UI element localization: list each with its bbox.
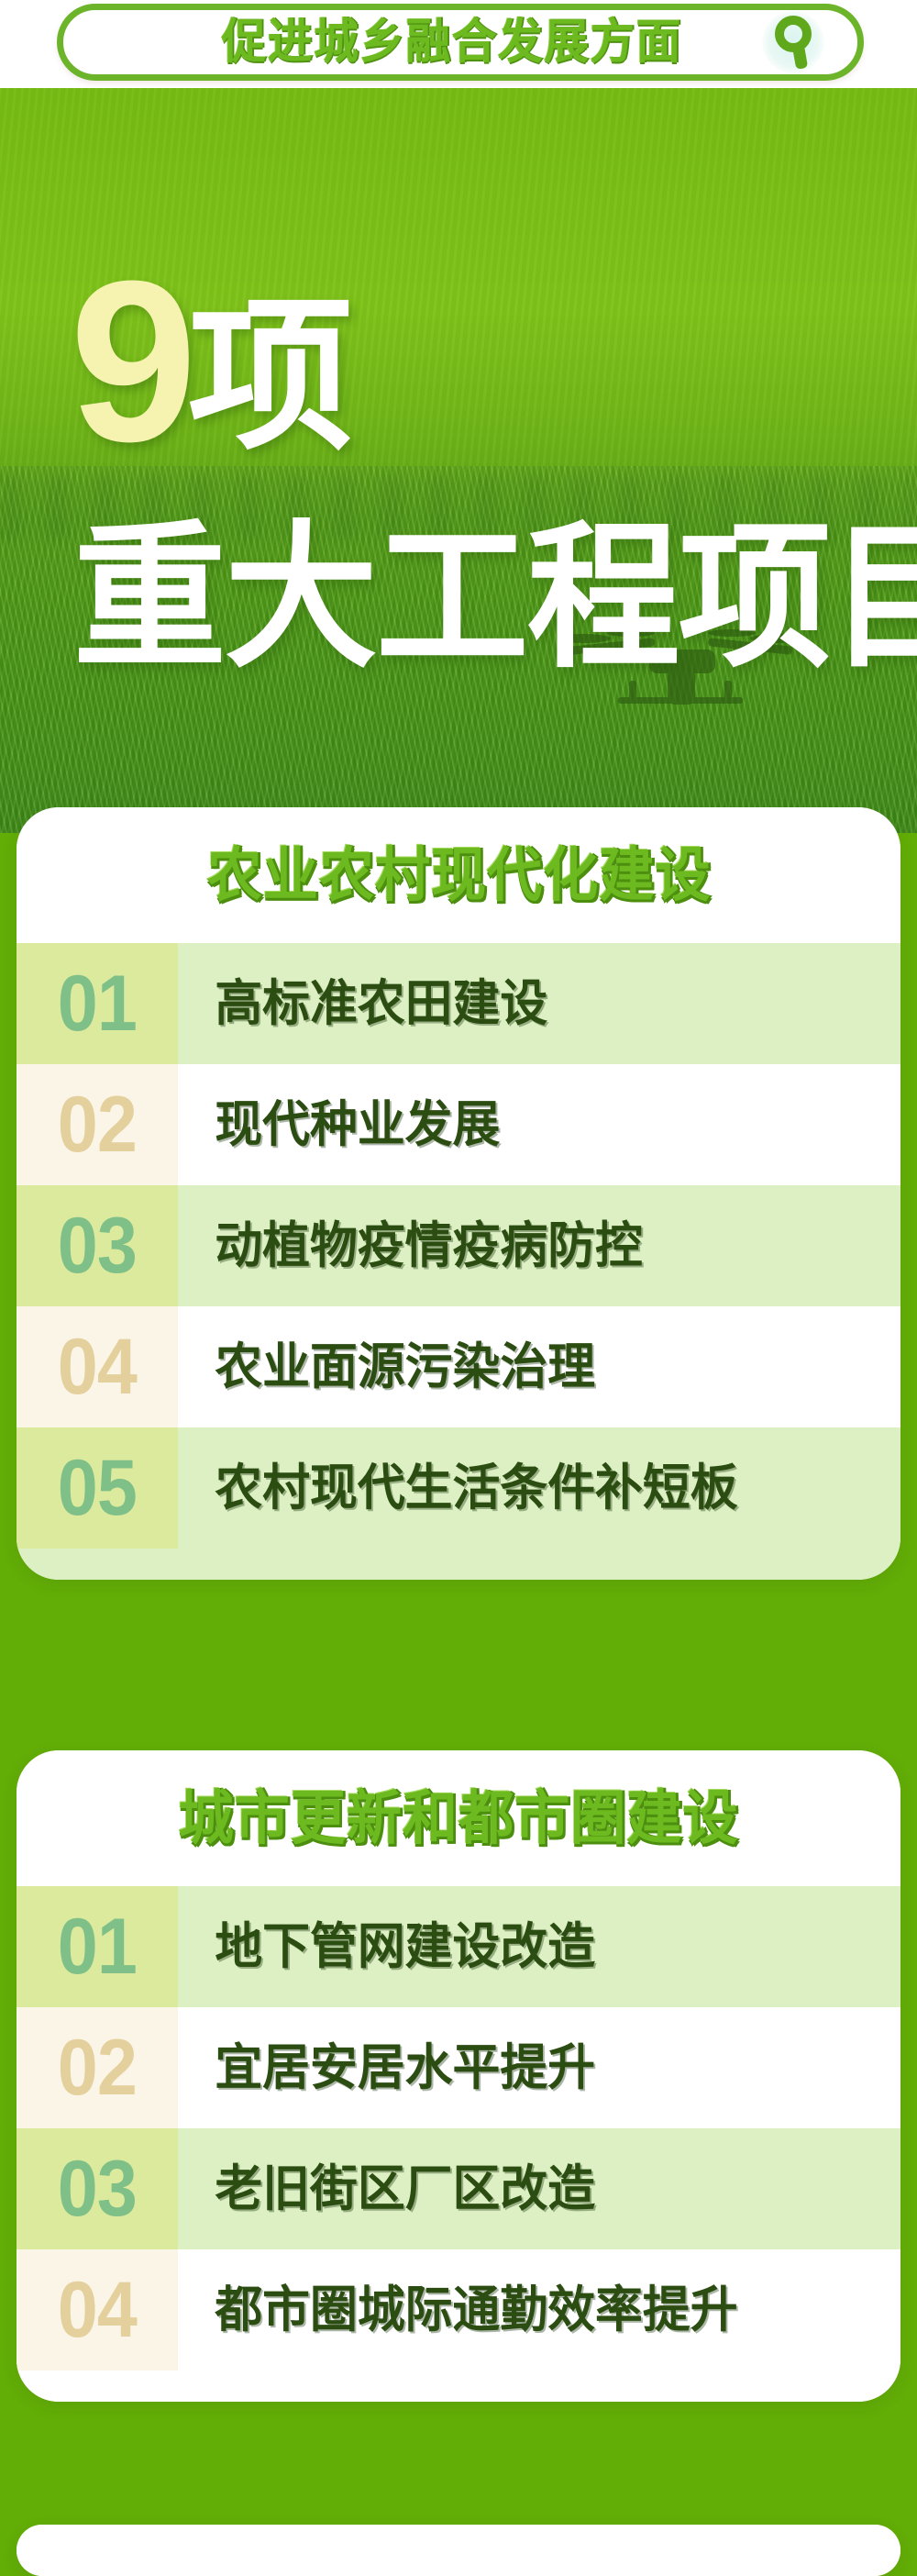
list-item[interactable]: 04 都市圈城际通勤效率提升 — [17, 2249, 900, 2371]
list-item[interactable]: 01 地下管网建设改造 — [17, 1886, 900, 2007]
item-number: 01 — [58, 1907, 137, 1986]
card-header — [17, 2525, 900, 2576]
item-label: 地下管网建设改造 — [178, 1886, 871, 2007]
card-title: 农业农村现代化建设 — [206, 846, 711, 905]
item-number: 02 — [58, 2028, 137, 2107]
hero-count: 9 — [70, 264, 192, 460]
hero-subtitle: 重大工程项目 — [73, 519, 917, 677]
item-number: 04 — [58, 2271, 137, 2349]
item-number: 02 — [58, 1085, 137, 1164]
infographic-page: 促进城乡融合发展方面 — [0, 0, 917, 2576]
item-number-badge: 01 — [17, 1886, 178, 2007]
page-title: 促进城乡融合发展方面 — [123, 18, 734, 66]
item-label: 宜居安居水平提升 — [178, 2007, 871, 2128]
item-label: 动植物疫情疫病防控 — [178, 1185, 871, 1306]
item-number: 05 — [58, 1449, 137, 1527]
list-item[interactable]: 03 动植物疫情疫病防控 — [17, 1185, 900, 1306]
list-item[interactable]: 05 农村现代生活条件补短板 — [17, 1427, 900, 1549]
top-header-bar: 促进城乡融合发展方面 — [0, 0, 917, 88]
card-agriculture-modernization: 农业农村现代化建设 01 高标准农田建设 02 现代种业发展 03 动植物疫情疫… — [17, 807, 900, 1580]
item-label: 老旧街区厂区改造 — [178, 2128, 871, 2249]
item-number: 01 — [58, 964, 137, 1043]
item-number: 04 — [58, 1327, 137, 1406]
list-item[interactable]: 03 老旧街区厂区改造 — [17, 2128, 900, 2249]
hero-text-block: 9 项 重大工程项目 — [0, 81, 917, 833]
hero-headline-line-1: 9 项 — [70, 264, 353, 460]
item-number-badge: 04 — [17, 1306, 178, 1427]
list-item[interactable]: 01 高标准农田建设 — [17, 943, 900, 1064]
section-title-pill: 促进城乡融合发展方面 — [57, 4, 864, 81]
card-footer-spacer — [17, 1549, 900, 1580]
item-label: 高标准农田建设 — [178, 943, 871, 1064]
item-number-badge: 03 — [17, 2128, 178, 2249]
item-number: 03 — [58, 2149, 137, 2228]
item-label: 现代种业发展 — [178, 1064, 871, 1185]
list-item[interactable]: 04 农业面源污染治理 — [17, 1306, 900, 1427]
item-number: 03 — [58, 1206, 137, 1285]
item-number-badge: 05 — [17, 1427, 178, 1549]
item-number-badge: 03 — [17, 1185, 178, 1306]
card-footer-spacer — [17, 2371, 900, 2402]
search-icon[interactable] — [757, 4, 834, 81]
hero-count-unit: 项 — [188, 304, 353, 452]
card-header: 农业农村现代化建设 — [17, 807, 900, 943]
item-label: 都市圈城际通勤效率提升 — [178, 2249, 871, 2371]
card-title: 城市更新和都市圈建设 — [179, 1789, 739, 1848]
list-item[interactable]: 02 现代种业发展 — [17, 1064, 900, 1185]
item-number-badge: 02 — [17, 2007, 178, 2128]
card-next-partial — [17, 2525, 900, 2576]
hero-banner: 9 项 重大工程项目 — [0, 81, 917, 833]
item-number-badge: 04 — [17, 2249, 178, 2371]
item-label: 农业面源污染治理 — [178, 1306, 871, 1427]
item-number-badge: 02 — [17, 1064, 178, 1185]
card-urban-renewal: 城市更新和都市圈建设 01 地下管网建设改造 02 宜居安居水平提升 03 老旧… — [17, 1750, 900, 2402]
list-item[interactable]: 02 宜居安居水平提升 — [17, 2007, 900, 2128]
card-header: 城市更新和都市圈建设 — [17, 1750, 900, 1886]
item-label: 农村现代生活条件补短板 — [178, 1427, 871, 1549]
item-number-badge: 01 — [17, 943, 178, 1064]
